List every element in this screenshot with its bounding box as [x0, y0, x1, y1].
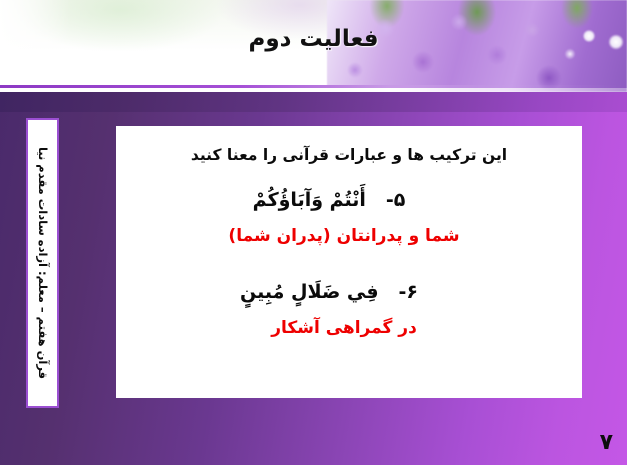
page-title: فعالیت دوم — [0, 26, 627, 52]
question-arabic-phrase: فِي ضَلَالٍ مُبِينٍ — [240, 281, 379, 303]
sidebar-item-label: قرآن هفتم – معلم: آزاده سادات مقدم نیا — [36, 147, 50, 379]
header-divider-white — [0, 88, 627, 92]
content-panel: این ترکیب ها و عبارات قرآنی را معنا کنید… — [116, 126, 582, 398]
question-arabic-text: ۶- فِي ضَلَالٍ مُبِينٍ — [136, 278, 562, 307]
question-translation-text: شما و پدرانتان (پدران شما) — [136, 225, 562, 249]
page-number: ۷ — [600, 430, 613, 455]
sidebar-vertical-banner: قرآن هفتم – معلم: آزاده سادات مقدم نیا — [26, 118, 59, 408]
question-arabic-phrase: أَنْتُمْ وَآبَاؤُكُمْ — [253, 189, 366, 211]
question-number: ۵- — [386, 189, 406, 211]
list-item: ۵- أَنْتُمْ وَآبَاؤُكُمْ شما و پدرانتان … — [136, 186, 562, 248]
question-arabic-text: ۵- أَنْتُمْ وَآبَاؤُكُمْ — [136, 186, 562, 215]
slide-canvas: فعالیت دوم قرآن هفتم – معلم: آزاده سادات… — [0, 0, 627, 465]
question-translation-text: در گمراهی آشکار — [136, 317, 562, 341]
list-item: ۶- فِي ضَلَالٍ مُبِينٍ در گمراهی آشکار — [136, 278, 562, 340]
slide-body-top-shade — [0, 92, 627, 112]
question-number: ۶- — [398, 281, 418, 303]
content-heading: این ترکیب ها و عبارات قرآنی را معنا کنید — [136, 146, 562, 164]
